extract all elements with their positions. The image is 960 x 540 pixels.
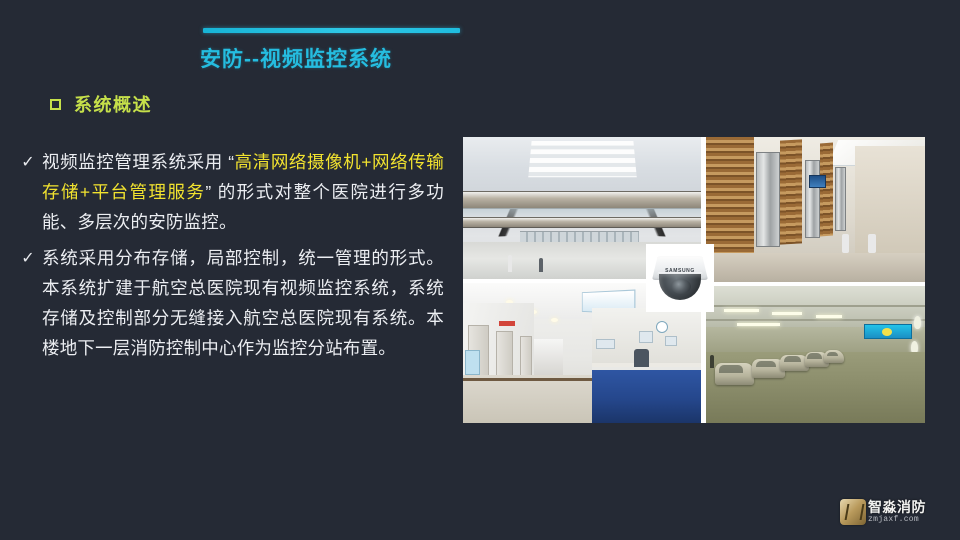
logo-text-block: 智淼消防 zmjaxf.com (868, 500, 926, 525)
wall-notice-board (665, 336, 677, 346)
logo-website-url: zmjaxf.com (868, 515, 926, 525)
corridor-floor (463, 375, 596, 423)
dome-camera-overlay: SAMSUNG (646, 244, 714, 312)
trash-bin (842, 234, 850, 253)
ceiling-downlight (551, 318, 558, 322)
body-bullet-list: ✓ 视频监控管理系统采用 “高清网络摄像机+网络传输存储+平台管理服务” 的形式… (14, 147, 444, 369)
wall-poster (465, 350, 479, 375)
camera-lens (671, 279, 691, 294)
section-heading: 系统概述 (50, 91, 152, 117)
list-item: ✓ 系统采用分布存储，局部控制，统一管理的形式。本系统扩建于航空总医院现有视频监… (14, 243, 444, 363)
person-figure (508, 255, 512, 272)
wall-clock (656, 321, 668, 333)
bullet-1-part-a: 视频监控管理系统采用 “ (42, 152, 234, 172)
staff-figure (634, 349, 648, 367)
lobby-floor (706, 253, 925, 282)
wood-slat-panel (706, 137, 754, 256)
square-bullet-icon (50, 99, 61, 110)
exit-sign (499, 321, 516, 327)
pendant-lamp (914, 316, 921, 329)
elevator-door (835, 167, 846, 231)
balcony-level-2 (463, 217, 701, 228)
person-figure (710, 355, 714, 368)
title-underline-rule (203, 28, 460, 33)
fluorescent-tube (724, 309, 759, 312)
stone-wall (855, 146, 925, 262)
watermark-logo: 智淼消防 zmjaxf.com (840, 492, 948, 532)
section-heading-label: 系统概述 (74, 91, 152, 117)
collage-divider-horizontal-right (706, 282, 925, 286)
reception-desk (592, 367, 701, 423)
list-item: ✓ 视频监控管理系统采用 “高清网络摄像机+网络传输存储+平台管理服务” 的形式… (14, 147, 444, 237)
check-icon: ✓ (14, 243, 42, 274)
fluorescent-tube (816, 315, 842, 318)
person-figure (539, 258, 543, 272)
parked-car (824, 350, 844, 362)
floor-baseboard (463, 378, 596, 382)
room-door (496, 331, 513, 381)
elevator-door (805, 160, 820, 238)
wood-slat-panel (780, 139, 802, 245)
dome-camera-icon: SAMSUNG (652, 256, 708, 300)
photo-parking-garage (706, 286, 925, 423)
car-window (719, 365, 743, 373)
balcony-level-1 (463, 191, 701, 209)
slide-canvas: 安防--视频监控系统 系统概述 ✓ 视频监控管理系统采用 “高清网络摄像机+网络… (0, 0, 960, 540)
fluorescent-tube (737, 323, 781, 326)
room-door (520, 336, 532, 378)
bullet-text-2: 系统采用分布存储，局部控制，统一管理的形式。本系统扩建于航空总医院现有视频监控系… (42, 243, 444, 363)
photo-elevator-lobby (706, 137, 925, 282)
wood-slat-panel (820, 142, 833, 236)
trash-bin (868, 234, 876, 253)
directional-sign (864, 324, 912, 339)
parked-car (715, 363, 754, 385)
wall-notice-board (596, 339, 615, 349)
car-window (807, 353, 821, 358)
logo-brand-name: 智淼消防 (868, 500, 926, 515)
ceiling-beam (706, 319, 925, 321)
fluorescent-tube (772, 312, 803, 315)
car-window (827, 352, 839, 356)
skylight (528, 141, 636, 177)
bullet-text-1: 视频监控管理系统采用 “高清网络摄像机+网络传输存储+平台管理服务” 的形式对整… (42, 147, 444, 237)
check-icon: ✓ (14, 147, 42, 178)
logo-mark-icon (840, 499, 866, 525)
wall-notice-board (639, 331, 653, 344)
ceiling-beam (706, 305, 925, 307)
image-collage: SAMSUNG (463, 137, 925, 423)
page-title: 安防--视频监控系统 (200, 43, 392, 73)
elevator-door (756, 152, 780, 248)
car-window (784, 356, 801, 362)
camera-dome (659, 274, 701, 300)
elevator-display-sign (809, 175, 827, 188)
car-window (756, 361, 776, 368)
